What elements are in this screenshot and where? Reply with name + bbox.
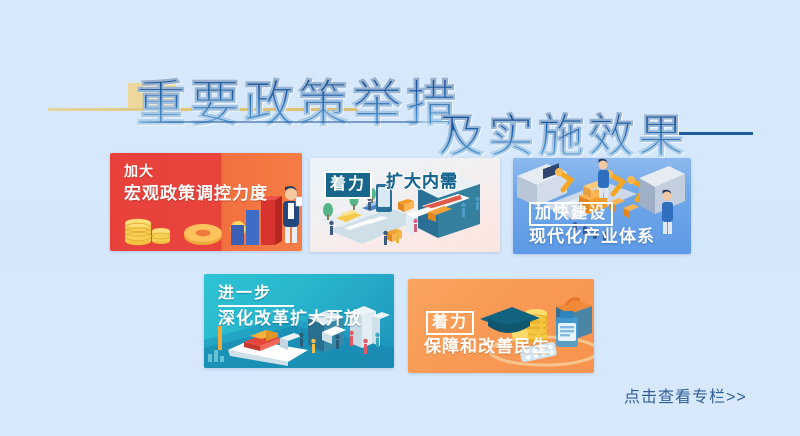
view-column-link[interactable]: 点击查看专栏>> — [624, 383, 747, 407]
card-livelihood-line2: 保障和改善民生 — [424, 336, 550, 358]
card-macro-policy[interactable]: 加大 宏观政策调控力度 — [110, 153, 302, 251]
card-macro-policy-line1: 加大 — [124, 163, 154, 181]
card-modern-industry-line1: 加快建设 — [529, 202, 613, 226]
card-modern-industry[interactable]: 加快建设 现代化产业体系 — [513, 158, 691, 254]
card-domestic-demand-line2: 扩大内需 — [386, 171, 458, 193]
card-modern-industry-line2: 现代化产业体系 — [529, 226, 655, 248]
infographic-banner: 重要政策举措 及实施效果 — [0, 0, 800, 436]
page-title-block: 重要政策举措 及实施效果 — [0, 28, 800, 138]
card-livelihood-line1: 着力 — [426, 311, 474, 335]
card-livelihood[interactable]: 着力 保障和改善民生 — [408, 279, 594, 373]
title-underline — [136, 121, 436, 123]
card-domestic-demand-line1: 着力 — [324, 171, 372, 199]
card-domestic-demand[interactable]: 着力 扩大内需 扩大内需 — [310, 158, 500, 252]
page-title-line2: 及实施效果 — [438, 100, 688, 166]
card-reform-opening-line2: 深化改革扩大开放 — [218, 308, 362, 330]
card-reform-opening-line1-underline — [218, 305, 294, 307]
card-macro-policy-line2: 宏观政策调控力度 — [124, 183, 268, 205]
page-title-line1: 重要政策举措 — [136, 64, 460, 136]
card-reform-opening-line1: 进一步 — [218, 284, 272, 304]
title-blue-rule — [679, 132, 753, 135]
card-reform-opening[interactable]: 进一步 深化改革扩大开放 — [204, 274, 394, 368]
